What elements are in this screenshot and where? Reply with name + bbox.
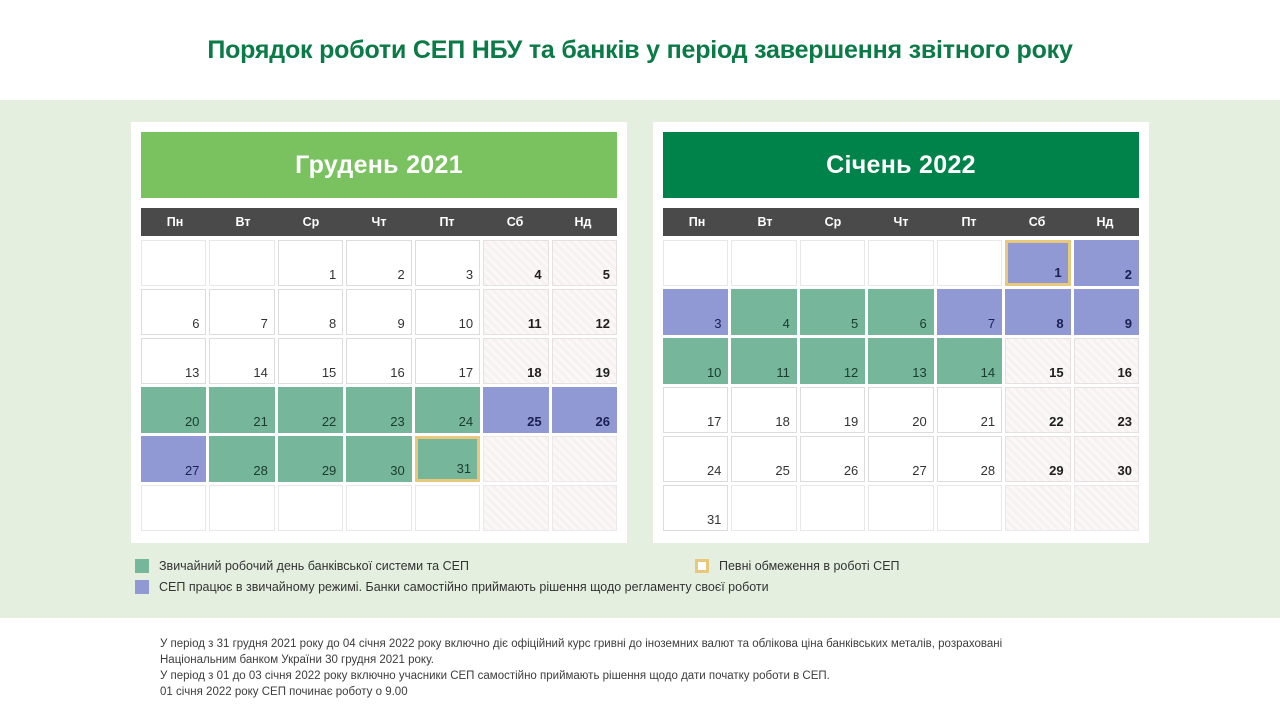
- calendar-day-cell: 21: [209, 387, 274, 433]
- legend-item-limited: Певні обмеження в роботі СЕП: [695, 559, 900, 573]
- calendar-day-number: 13: [185, 365, 199, 380]
- calendar-day-number: 18: [527, 365, 541, 380]
- calendar-empty-cell: [346, 485, 411, 531]
- calendar-day-number: 4: [783, 316, 790, 331]
- calendar-day-cell: 20: [141, 387, 206, 433]
- calendar-day-number: 12: [596, 316, 610, 331]
- calendar-title-january: Січень 2022: [663, 132, 1139, 198]
- calendar-day-number: 8: [1056, 316, 1063, 331]
- calendar-day-number: 28: [253, 463, 267, 478]
- weekday-mon: Пн: [663, 208, 731, 236]
- calendar-day-number: 31: [707, 512, 721, 527]
- weekday-wed: Ср: [799, 208, 867, 236]
- calendar-day-cell: 24: [415, 387, 480, 433]
- footnote-line: У період з 01 до 03 січня 2022 року вклю…: [160, 668, 1280, 684]
- calendar-day-cell: 9: [1074, 289, 1139, 335]
- calendar-day-cell: 28: [937, 436, 1002, 482]
- page-title: Порядок роботи СЕП НБУ та банків у періо…: [207, 36, 1072, 65]
- calendar-empty-cell: [868, 485, 933, 531]
- calendar-card-january: Січень 2022 Пн Вт Ср Чт Пт Сб Нд 1234567…: [653, 122, 1149, 543]
- calendar-empty-cell: [552, 485, 617, 531]
- calendar-day-number: 6: [192, 316, 199, 331]
- weekday-sun: Нд: [549, 208, 617, 236]
- calendar-day-cell: 9: [346, 289, 411, 335]
- calendar-day-cell: 25: [731, 436, 796, 482]
- calendar-day-cell: 31: [663, 485, 728, 531]
- weekday-wed: Ср: [277, 208, 345, 236]
- calendar-day-number: 6: [919, 316, 926, 331]
- calendar-day-cell: 5: [800, 289, 865, 335]
- calendar-day-number: 24: [707, 463, 721, 478]
- calendar-day-number: 9: [1125, 316, 1132, 331]
- calendar-day-number: 31: [457, 461, 471, 476]
- weekday-thu: Чт: [345, 208, 413, 236]
- weekday-sun: Нд: [1071, 208, 1139, 236]
- calendar-day-number: 29: [322, 463, 336, 478]
- calendar-day-cell: 22: [278, 387, 343, 433]
- calendar-day-number: 17: [459, 365, 473, 380]
- calendar-empty-cell: [800, 485, 865, 531]
- calendar-day-number: 2: [1125, 267, 1132, 282]
- calendar-day-cell: 27: [141, 436, 206, 482]
- calendar-title-december: Грудень 2021: [141, 132, 617, 198]
- calendar-day-cell: 8: [278, 289, 343, 335]
- legend-item-sep-normal: СЕП працює в звичайному режимі. Банки са…: [135, 580, 769, 594]
- calendar-day-number: 15: [322, 365, 336, 380]
- calendar-empty-cell: [209, 240, 274, 286]
- calendar-day-number: 14: [981, 365, 995, 380]
- calendar-day-number: 4: [534, 267, 541, 282]
- calendar-day-number: 15: [1049, 365, 1063, 380]
- calendar-empty-cell: [209, 485, 274, 531]
- calendar-band: Грудень 2021 Пн Вт Ср Чт Пт Сб Нд 123456…: [0, 100, 1280, 618]
- calendar-day-number: 7: [988, 316, 995, 331]
- calendar-card-december: Грудень 2021 Пн Вт Ср Чт Пт Сб Нд 123456…: [131, 122, 627, 543]
- calendar-day-number: 29: [1049, 463, 1063, 478]
- calendar-day-number: 25: [775, 463, 789, 478]
- calendar-day-cell: 18: [483, 338, 548, 384]
- weekday-mon: Пн: [141, 208, 209, 236]
- calendar-day-number: 8: [329, 316, 336, 331]
- calendar-grid-december: 1234567891011121314151617181920212223242…: [141, 240, 617, 531]
- calendar-empty-cell: [868, 240, 933, 286]
- weekday-header-january: Пн Вт Ср Чт Пт Сб Нд: [663, 208, 1139, 236]
- calendar-day-number: 17: [707, 414, 721, 429]
- calendar-day-number: 19: [844, 414, 858, 429]
- calendar-day-cell: 7: [937, 289, 1002, 335]
- calendar-day-number: 27: [185, 463, 199, 478]
- calendar-day-number: 10: [707, 365, 721, 380]
- calendar-day-cell: 3: [415, 240, 480, 286]
- weekday-sat: Сб: [1003, 208, 1071, 236]
- calendar-day-cell: 6: [141, 289, 206, 335]
- legend-row-1: Звичайний робочий день банківської систе…: [135, 559, 1145, 573]
- legend: Звичайний робочий день банківської систе…: [135, 559, 1145, 594]
- calendar-day-cell: 19: [552, 338, 617, 384]
- footnote-block: У період з 31 грудня 2021 року до 04 січ…: [0, 618, 1280, 720]
- calendar-day-number: 21: [253, 414, 267, 429]
- legend-label-limited: Певні обмеження в роботі СЕП: [719, 559, 900, 573]
- calendar-day-number: 5: [603, 267, 610, 282]
- calendar-day-number: 13: [912, 365, 926, 380]
- calendar-day-cell: 1: [1005, 240, 1070, 286]
- calendar-day-cell: 11: [483, 289, 548, 335]
- calendar-day-cell: 15: [1005, 338, 1070, 384]
- title-bar: Порядок роботи СЕП НБУ та банків у періо…: [0, 0, 1280, 100]
- weekday-fri: Пт: [935, 208, 1003, 236]
- calendar-day-number: 21: [981, 414, 995, 429]
- calendar-day-cell: 2: [1074, 240, 1139, 286]
- calendar-day-number: 1: [329, 267, 336, 282]
- calendar-day-cell: 10: [415, 289, 480, 335]
- calendar-day-cell: 28: [209, 436, 274, 482]
- calendar-day-cell: 4: [731, 289, 796, 335]
- calendar-day-cell: 26: [800, 436, 865, 482]
- calendar-day-number: 3: [714, 316, 721, 331]
- calendar-day-number: 14: [253, 365, 267, 380]
- weekday-thu: Чт: [867, 208, 935, 236]
- calendar-empty-cell: [731, 240, 796, 286]
- calendar-day-number: 28: [981, 463, 995, 478]
- calendar-day-cell: 13: [141, 338, 206, 384]
- calendar-day-number: 23: [1118, 414, 1132, 429]
- calendar-day-cell: 26: [552, 387, 617, 433]
- weekday-tue: Вт: [209, 208, 277, 236]
- calendar-day-cell: 29: [1005, 436, 1070, 482]
- calendar-day-number: 5: [851, 316, 858, 331]
- footnote-line: Національним банком України 30 грудня 20…: [160, 652, 1280, 668]
- calendar-empty-cell: [141, 240, 206, 286]
- calendar-grid-january: 1234567891011121314151617181920212223242…: [663, 240, 1139, 531]
- legend-row-2: СЕП працює в звичайному режимі. Банки са…: [135, 580, 1145, 594]
- calendar-day-cell: 7: [209, 289, 274, 335]
- calendar-day-cell: 2: [346, 240, 411, 286]
- calendar-day-number: 20: [912, 414, 926, 429]
- calendar-day-number: 19: [596, 365, 610, 380]
- calendar-empty-cell: [800, 240, 865, 286]
- calendar-day-cell: 25: [483, 387, 548, 433]
- calendar-day-cell: 12: [552, 289, 617, 335]
- calendar-empty-cell: [415, 485, 480, 531]
- weekday-fri: Пт: [413, 208, 481, 236]
- legend-swatch-limited-icon: [695, 559, 709, 573]
- calendar-day-cell: 24: [663, 436, 728, 482]
- calendar-day-number: 25: [527, 414, 541, 429]
- calendar-day-cell: 8: [1005, 289, 1070, 335]
- calendar-day-number: 22: [1049, 414, 1063, 429]
- calendar-day-number: 27: [912, 463, 926, 478]
- calendar-day-number: 10: [459, 316, 473, 331]
- calendar-day-cell: 16: [1074, 338, 1139, 384]
- calendar-day-cell: 27: [868, 436, 933, 482]
- calendar-day-number: 26: [596, 414, 610, 429]
- calendar-day-cell: 17: [663, 387, 728, 433]
- calendar-day-number: 9: [397, 316, 404, 331]
- calendar-day-cell: 30: [1074, 436, 1139, 482]
- calendar-day-number: 20: [185, 414, 199, 429]
- calendar-day-number: 26: [844, 463, 858, 478]
- calendar-day-number: 3: [466, 267, 473, 282]
- weekday-header-december: Пн Вт Ср Чт Пт Сб Нд: [141, 208, 617, 236]
- calendar-day-cell: 14: [937, 338, 1002, 384]
- calendar-day-cell: 15: [278, 338, 343, 384]
- calendar-day-cell: 18: [731, 387, 796, 433]
- calendar-day-number: 7: [261, 316, 268, 331]
- weekday-sat: Сб: [481, 208, 549, 236]
- calendar-day-number: 1: [1054, 265, 1061, 280]
- calendar-empty-cell: [1074, 485, 1139, 531]
- calendar-day-cell: 22: [1005, 387, 1070, 433]
- calendar-day-cell: 6: [868, 289, 933, 335]
- footnote-line: У період з 31 грудня 2021 року до 04 січ…: [160, 636, 1280, 652]
- calendar-day-cell: 3: [663, 289, 728, 335]
- calendar-day-cell: 17: [415, 338, 480, 384]
- calendar-day-cell: 30: [346, 436, 411, 482]
- legend-label-work-day: Звичайний робочий день банківської систе…: [159, 559, 469, 573]
- calendar-day-cell: 5: [552, 240, 617, 286]
- calendar-day-cell: 20: [868, 387, 933, 433]
- calendar-empty-cell: [731, 485, 796, 531]
- legend-swatch-sep-normal-icon: [135, 580, 149, 594]
- calendar-day-number: 24: [459, 414, 473, 429]
- legend-swatch-work-day-icon: [135, 559, 149, 573]
- calendar-day-number: 30: [390, 463, 404, 478]
- calendar-day-cell: 29: [278, 436, 343, 482]
- calendar-day-cell: 21: [937, 387, 1002, 433]
- calendar-day-number: 22: [322, 414, 336, 429]
- calendar-day-cell: 11: [731, 338, 796, 384]
- infographic-page: Порядок роботи СЕП НБУ та банків у періо…: [0, 0, 1280, 720]
- calendar-day-cell: 19: [800, 387, 865, 433]
- calendar-day-number: 2: [397, 267, 404, 282]
- calendar-day-cell: 23: [1074, 387, 1139, 433]
- calendar-day-cell: 16: [346, 338, 411, 384]
- calendar-cards: Грудень 2021 Пн Вт Ср Чт Пт Сб Нд 123456…: [0, 122, 1280, 543]
- calendar-day-cell: 14: [209, 338, 274, 384]
- calendar-empty-cell: [552, 436, 617, 482]
- calendar-empty-cell: [663, 240, 728, 286]
- calendar-day-cell: 10: [663, 338, 728, 384]
- calendar-day-number: 11: [528, 316, 542, 331]
- calendar-day-cell: 1: [278, 240, 343, 286]
- footnote-line: 01 січня 2022 року СЕП починає роботу о …: [160, 684, 1280, 700]
- calendar-day-number: 16: [1118, 365, 1132, 380]
- calendar-empty-cell: [483, 436, 548, 482]
- calendar-day-cell: 31: [415, 436, 480, 482]
- legend-label-sep-normal: СЕП працює в звичайному режимі. Банки са…: [159, 580, 769, 594]
- calendar-day-number: 12: [844, 365, 858, 380]
- calendar-empty-cell: [278, 485, 343, 531]
- calendar-empty-cell: [1005, 485, 1070, 531]
- calendar-day-cell: 12: [800, 338, 865, 384]
- calendar-day-number: 18: [775, 414, 789, 429]
- calendar-empty-cell: [937, 240, 1002, 286]
- calendar-day-number: 23: [390, 414, 404, 429]
- calendar-day-cell: 13: [868, 338, 933, 384]
- calendar-day-number: 30: [1118, 463, 1132, 478]
- calendar-empty-cell: [937, 485, 1002, 531]
- calendar-empty-cell: [141, 485, 206, 531]
- calendar-day-number: 16: [390, 365, 404, 380]
- calendar-day-number: 11: [776, 365, 790, 380]
- legend-item-work-day: Звичайний робочий день банківської систе…: [135, 559, 695, 573]
- calendar-empty-cell: [483, 485, 548, 531]
- calendar-day-cell: 4: [483, 240, 548, 286]
- weekday-tue: Вт: [731, 208, 799, 236]
- calendar-day-cell: 23: [346, 387, 411, 433]
